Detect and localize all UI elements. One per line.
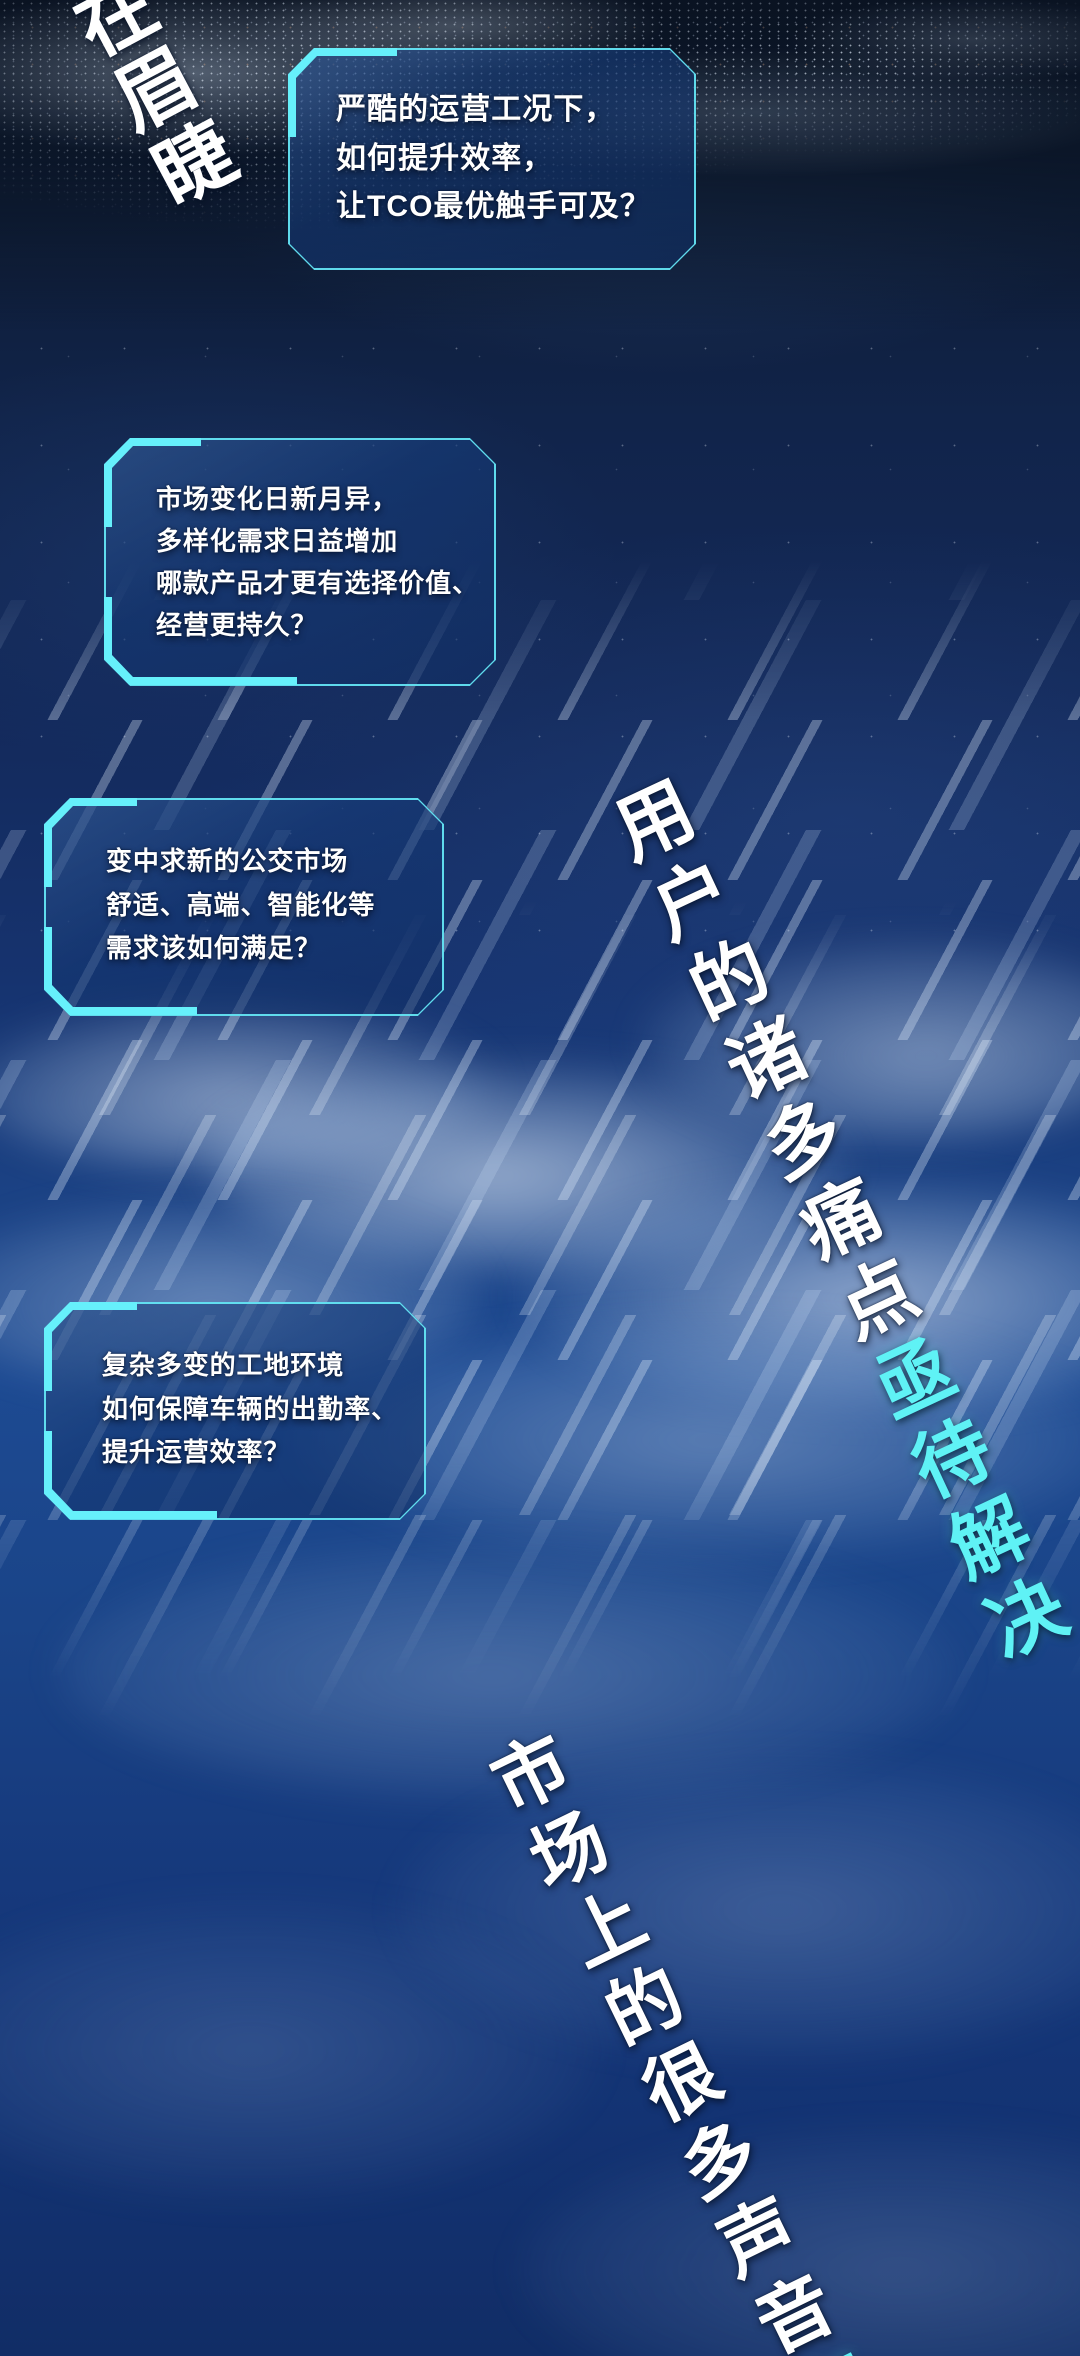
question-card-4[interactable]: 复杂多变的工地环境 如何保障车辆的出勤率、 提升运营效率？ xyxy=(44,1302,426,1520)
poster-canvas: 在眉睫 用户的诸多痛点亟待解决 市场上的很多声音有 严酷的运营工况下， 如何提升… xyxy=(0,0,1080,2356)
card-2-text: 市场变化日新月异， 多样化需求日益增加 哪款产品才更有选择价值、 经营更持久？ xyxy=(156,478,479,646)
question-card-3[interactable]: 变中求新的公交市场 舒适、高端、智能化等 需求该如何满足？ xyxy=(44,798,444,1016)
card-4-text: 复杂多变的工地环境 如何保障车辆的出勤率、 提升运营效率？ xyxy=(102,1344,398,1475)
card-1-text: 严酷的运营工况下， 如何提升效率， 让TCO最优触手可及？ xyxy=(336,86,651,232)
question-card-1[interactable]: 严酷的运营工况下， 如何提升效率， 让TCO最优触手可及？ xyxy=(288,48,696,270)
question-card-2[interactable]: 市场变化日新月异， 多样化需求日益增加 哪款产品才更有选择价值、 经营更持久？ xyxy=(104,438,496,686)
card-3-text: 变中求新的公交市场 舒适、高端、智能化等 需求该如何满足？ xyxy=(106,840,375,971)
